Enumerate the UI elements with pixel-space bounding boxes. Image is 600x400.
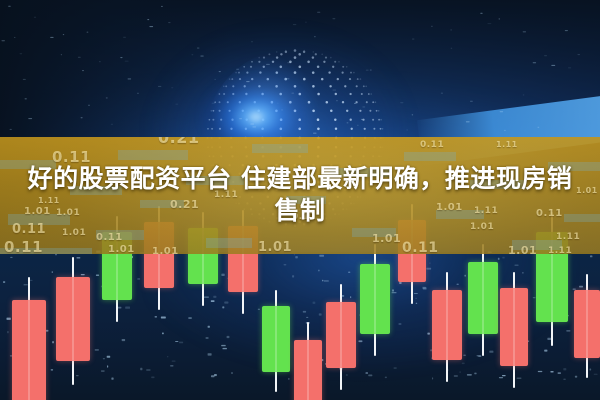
overlay-number: 0.11 bbox=[420, 140, 444, 150]
candlestick-body bbox=[500, 288, 528, 366]
candlestick-body bbox=[12, 300, 46, 400]
candlestick-body bbox=[432, 290, 462, 360]
overlay-number: 0.11 bbox=[402, 240, 439, 254]
overlay-number: 1.01 bbox=[372, 232, 401, 245]
candlestick-body bbox=[468, 262, 498, 334]
overlay-bar bbox=[252, 144, 308, 153]
overlay-bar bbox=[404, 152, 456, 161]
overlay-number: 1.11 bbox=[556, 232, 580, 242]
overlay-number: 1.01 bbox=[508, 244, 537, 254]
page-title-line2: 售制 bbox=[14, 195, 586, 227]
overlay-number: 1.11 bbox=[496, 140, 518, 149]
overlay-number: 1.01 bbox=[152, 246, 179, 254]
overlay-number: 1.01 bbox=[258, 240, 292, 254]
candlestick-body bbox=[294, 340, 322, 400]
overlay-number: 0.11 bbox=[4, 238, 43, 254]
overlay-number: 0.11 bbox=[96, 232, 123, 243]
candlestick-body bbox=[574, 290, 600, 358]
overlay-number: 1.01 bbox=[108, 244, 135, 254]
overlay-number: 1.01 bbox=[62, 228, 86, 238]
candlestick-body bbox=[326, 302, 356, 368]
overlay-number: 0.21 bbox=[158, 137, 199, 147]
page-title-line1: 好的股票配资平台 住建部最新明确，推进现房销 bbox=[14, 163, 586, 195]
page-title: 好的股票配资平台 住建部最新明确，推进现房销 售制 bbox=[0, 163, 600, 227]
candlestick-body bbox=[360, 264, 390, 334]
overlay-number: 1.11 bbox=[548, 246, 572, 254]
candlestick-body bbox=[262, 306, 290, 372]
candlestick-body bbox=[56, 277, 90, 361]
overlay-bar bbox=[206, 238, 252, 248]
overlay-bar bbox=[118, 150, 188, 160]
banner-image: 0.111.010.111.010.111.011.110.111.010.21… bbox=[0, 0, 600, 400]
